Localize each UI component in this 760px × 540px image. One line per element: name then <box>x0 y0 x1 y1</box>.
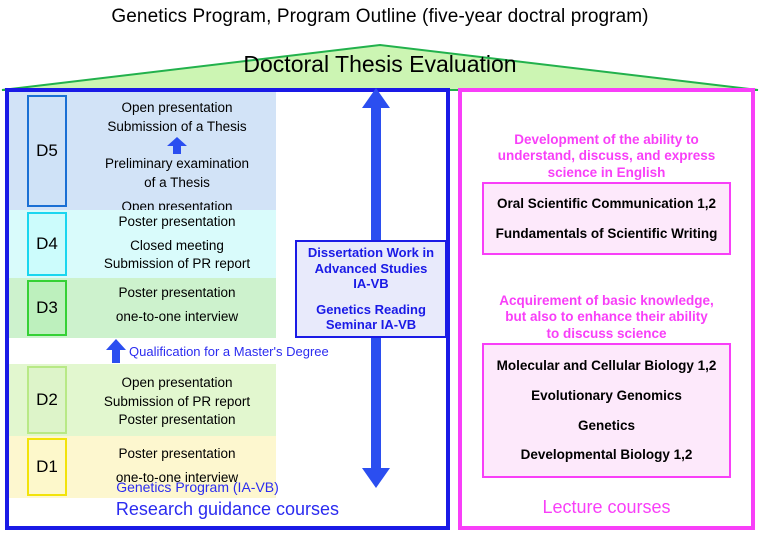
lecture-group-2-heading-line-3: to discuss science <box>470 326 743 342</box>
lecture-group-1-heading-line-3: science in English <box>470 165 743 181</box>
lecture-course-genetics: Genetics <box>578 418 635 434</box>
d2-line-3: Poster presentation <box>71 411 283 430</box>
year-text-d3: Poster presentation one-to-one interview <box>71 284 283 326</box>
year-tag-label-d3: D3 <box>36 298 58 318</box>
year-text-d2: Open presentation Submission of PR repor… <box>71 374 283 430</box>
year-text-d4: Poster presentation Closed meeting Submi… <box>71 213 283 274</box>
year-tag-d4: D4 <box>27 212 67 276</box>
d4-line-1: Poster presentation <box>71 213 283 232</box>
lecture-panel-title: Lecture courses <box>462 497 751 518</box>
year-tag-label-d1: D1 <box>36 457 58 477</box>
program-subtitle: Genetics Program (IA-VB) <box>0 479 446 495</box>
year-tag-d2: D2 <box>27 366 67 434</box>
year-tag-label-d5: D5 <box>36 141 58 161</box>
year-tag-label-d4: D4 <box>36 234 58 254</box>
lecture-course-evolutionary-genomics: Evolutionary Genomics <box>531 388 682 404</box>
d4-line-3: Submission of PR report <box>71 255 283 274</box>
lecture-group-2-heading-line-2: but also to enhance their ability <box>470 309 743 325</box>
banner-label: Doctoral Thesis Evaluation <box>0 51 760 78</box>
year-tag-d3: D3 <box>27 280 67 336</box>
course-box-line-3: IA-VB <box>353 276 388 292</box>
d5-line-4: of a Thesis <box>71 174 283 193</box>
qualification-label: Qualification for a Master's Degree <box>129 344 329 359</box>
d5-line-3: Preliminary examination <box>71 155 283 174</box>
d2-line-2: Submission of PR report <box>71 393 283 412</box>
lecture-group-1-box: Oral Scientific Communication 1,2 Fundam… <box>482 182 731 255</box>
course-box-line-4: Genetics Reading <box>316 302 426 318</box>
d4-line-2: Closed meeting <box>71 237 283 256</box>
d5-line-1: Open presentation <box>71 99 283 118</box>
up-arrow-icon-qualification <box>105 339 127 363</box>
lecture-course-fundamentals-scientific-writing: Fundamentals of Scientific Writing <box>496 226 718 242</box>
lecture-group-2-box: Molecular and Cellular Biology 1,2 Evolu… <box>482 343 731 478</box>
research-guidance-panel: D5 Open presentation Submission of a The… <box>5 88 450 530</box>
research-panel-footer: Genetics Program (IA-VB) Research guidan… <box>9 479 446 520</box>
lecture-group-1-heading-line-1: Development of the ability to <box>470 132 743 148</box>
lecture-courses-panel: Development of the ability to understand… <box>458 88 755 530</box>
lecture-course-molecular-cellular-biology: Molecular and Cellular Biology 1,2 <box>497 358 717 374</box>
d2-line-1: Open presentation <box>71 374 283 393</box>
page-title: Genetics Program, Program Outline (five-… <box>0 6 760 28</box>
research-panel-title: Research guidance courses <box>9 499 446 520</box>
lecture-group-1-heading: Development of the ability to understand… <box>470 132 743 181</box>
doctoral-thesis-evaluation-banner: Doctoral Thesis Evaluation <box>0 44 760 92</box>
d5-line-2: Submission of a Thesis <box>71 118 283 137</box>
lecture-course-developmental-biology: Developmental Biology 1,2 <box>521 447 693 463</box>
d3-line-2: one-to-one interview <box>71 308 283 327</box>
year-tag-label-d2: D2 <box>36 390 58 410</box>
up-arrow-icon-d5 <box>166 137 188 154</box>
lecture-group-2-heading: Acquirement of basic knowledge, but also… <box>470 293 743 342</box>
lecture-group-2-heading-line-1: Acquirement of basic knowledge, <box>470 293 743 309</box>
d1-line-1: Poster presentation <box>71 445 283 464</box>
d3-line-1: Poster presentation <box>71 284 283 303</box>
year-tag-d5: D5 <box>27 95 67 207</box>
dissertation-course-box: Dissertation Work in Advanced Studies IA… <box>295 240 447 338</box>
lecture-group-1-heading-line-2: understand, discuss, and express <box>470 148 743 164</box>
lecture-course-oral-scientific-communication: Oral Scientific Communication 1,2 <box>497 196 716 212</box>
course-box-line-5: Seminar IA-VB <box>326 317 416 333</box>
course-box-line-1: Dissertation Work in <box>308 245 434 261</box>
year-text-d5: Open presentation Submission of a Thesis… <box>71 99 283 216</box>
course-box-line-2: Advanced Studies <box>315 261 428 277</box>
